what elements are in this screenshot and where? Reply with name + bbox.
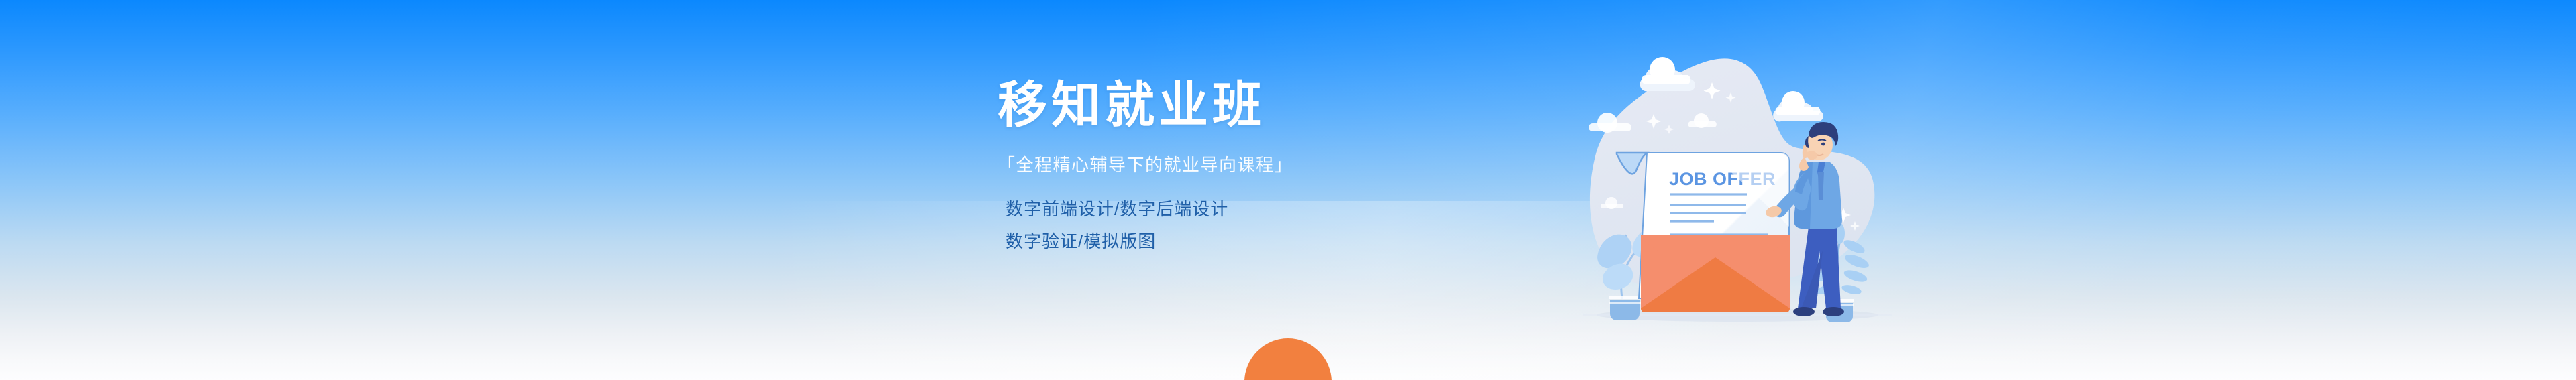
hero-banner: 移知就业班 「全程精心辅导下的就业导向课程」 数字前端设计/数字后端设计 数字验… [0,0,2576,380]
course-list: 数字前端设计/数字后端设计 数字验证/模拟版图 [998,176,1574,257]
job-offer-illustration: JOB OFFER [1570,25,1905,340]
course-line: 数字验证/模拟版图 [998,226,1574,257]
orange-accent-circle [1244,338,1332,380]
page-title: 移知就业班 [998,79,1574,131]
cloud-right [1773,91,1823,121]
hero-subtitle: 「全程精心辅导下的就业导向课程」 [998,131,1574,176]
course-line: 数字前端设计/数字后端设计 [998,194,1574,225]
hero-text-block: 移知就业班 「全程精心辅导下的就业导向课程」 数字前端设计/数字后端设计 数字验… [998,79,1574,257]
orange-envelope [1641,235,1790,312]
